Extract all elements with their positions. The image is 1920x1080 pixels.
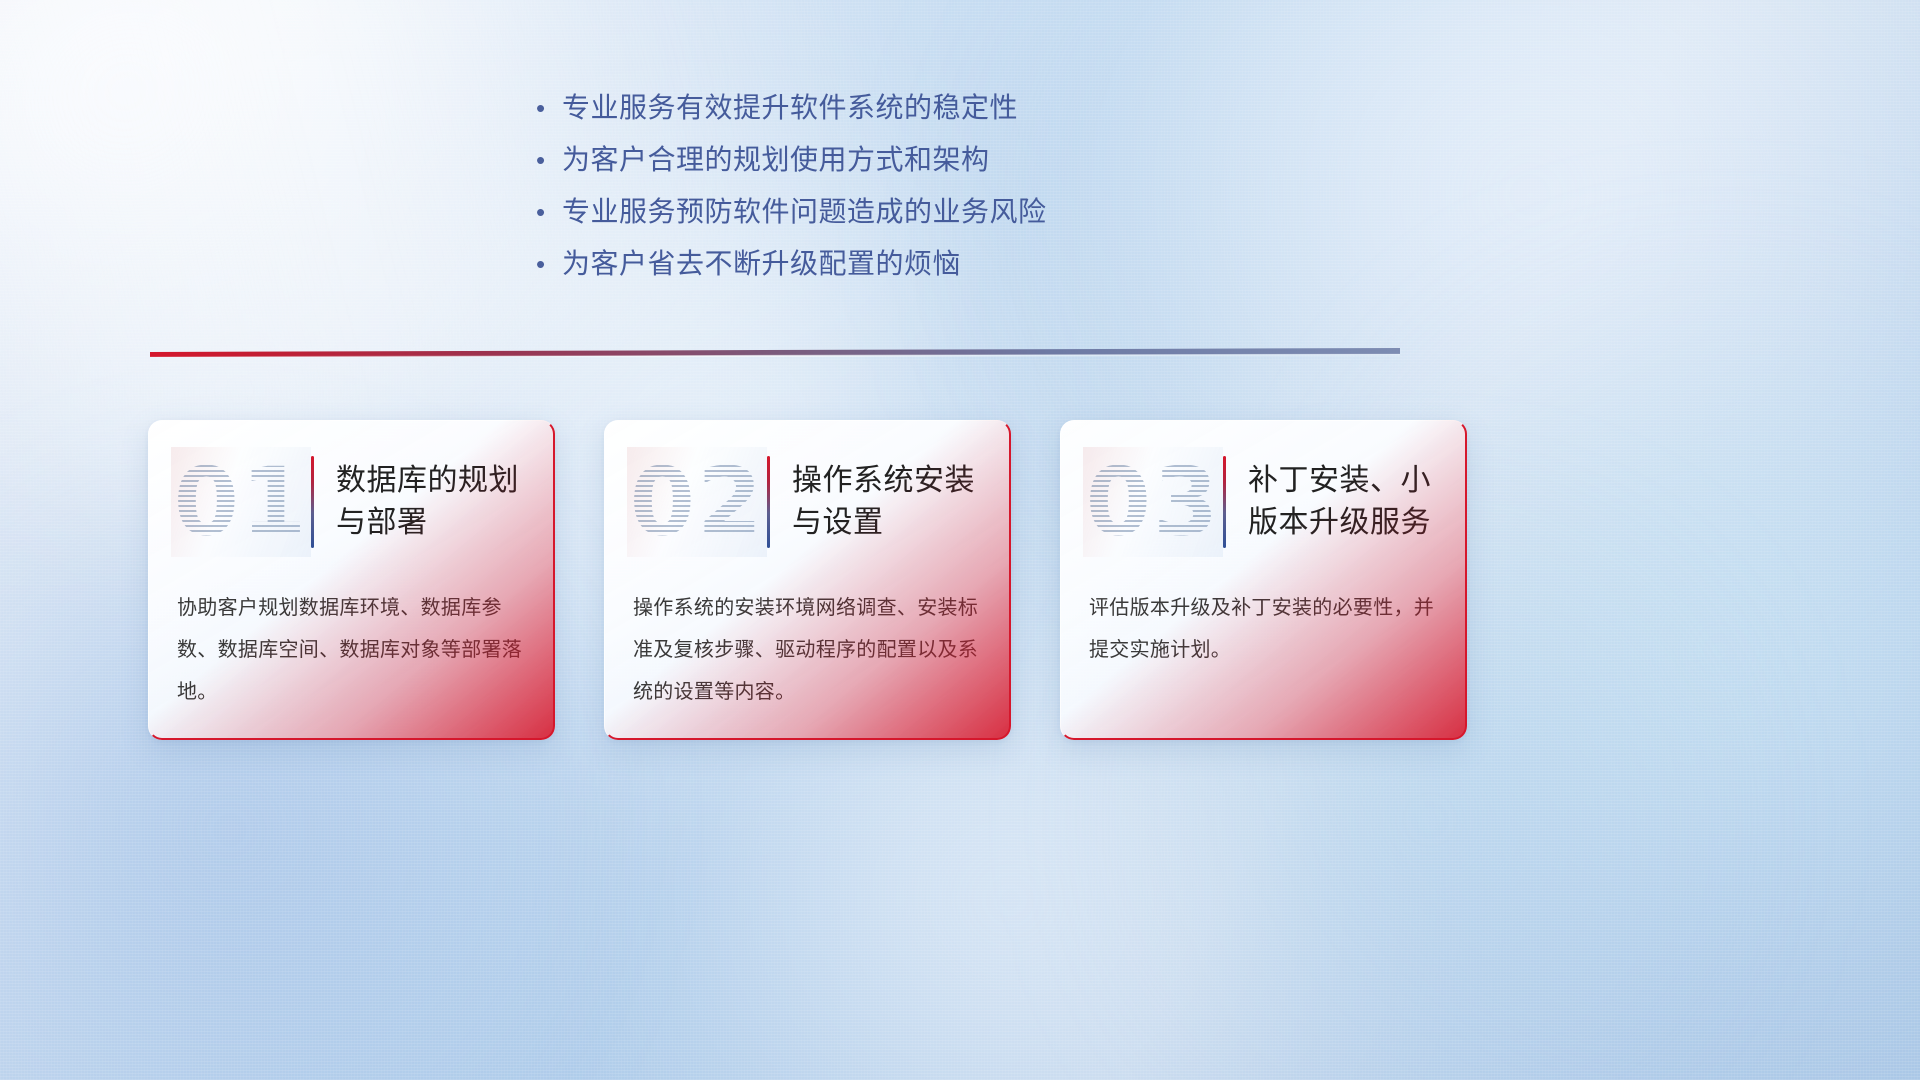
bullet-text: 为客户合理的规划使用方式和架构 (562, 140, 990, 180)
card-divider-bar (311, 456, 314, 548)
bullet-dot-icon: • (536, 88, 562, 128)
list-item: • 专业服务预防软件问题造成的业务风险 (536, 192, 1236, 244)
card-number-text: 02 (627, 447, 767, 557)
bullet-text: 专业服务预防软件问题造成的业务风险 (562, 192, 1047, 232)
card-description: 协助客户规划数据库环境、数据库参数、数据库空间、数据库对象等部署落地。 (177, 587, 529, 713)
card-number-graphic: 02 (627, 447, 767, 557)
card-surface: 01 数据库的规划与部署 协助客户规划数据库环境、数据库参数、数据库空间、数据库… (148, 420, 555, 740)
card-divider-bar (1223, 456, 1226, 548)
card-header: 02 操作系统安装与设置 (605, 437, 1011, 567)
card-title: 补丁安装、小版本升级服务 (1248, 460, 1467, 544)
list-item: • 为客户合理的规划使用方式和架构 (536, 140, 1236, 192)
card-number-graphic: 01 (171, 447, 311, 557)
bullet-dot-icon: • (536, 192, 562, 232)
card-number-text: 01 (171, 447, 311, 557)
card-number-text: 03 (1083, 447, 1223, 557)
bullet-dot-icon: • (536, 140, 562, 180)
divider-wedge-icon (150, 348, 1400, 362)
card-divider-bar (767, 456, 770, 548)
bullet-list: • 专业服务有效提升软件系统的稳定性 • 为客户合理的规划使用方式和架构 • 专… (536, 88, 1236, 296)
card-header: 01 数据库的规划与部署 (149, 437, 555, 567)
card-title: 操作系统安装与设置 (792, 460, 1011, 544)
card-description: 操作系统的安装环境网络调查、安装标准及复核步骤、驱动程序的配置以及系统的设置等内… (633, 587, 985, 713)
card-title: 数据库的规划与部署 (336, 460, 555, 544)
service-card-01[interactable]: 01 数据库的规划与部署 协助客户规划数据库环境、数据库参数、数据库空间、数据库… (148, 420, 555, 740)
service-card-03[interactable]: 03 补丁安装、小版本升级服务 评估版本升级及补丁安装的必要性，并提交实施计划。 (1060, 420, 1467, 740)
card-surface: 02 操作系统安装与设置 操作系统的安装环境网络调查、安装标准及复核步骤、驱动程… (604, 420, 1011, 740)
bullet-dot-icon: • (536, 244, 562, 284)
list-item: • 专业服务有效提升软件系统的稳定性 (536, 88, 1236, 140)
card-description: 评估版本升级及补丁安装的必要性，并提交实施计划。 (1089, 587, 1441, 671)
card-number-graphic: 03 (1083, 447, 1223, 557)
bullet-text: 为客户省去不断升级配置的烦恼 (562, 244, 961, 284)
card-surface: 03 补丁安装、小版本升级服务 评估版本升级及补丁安装的必要性，并提交实施计划。 (1060, 420, 1467, 740)
card-list: 01 数据库的规划与部署 协助客户规划数据库环境、数据库参数、数据库空间、数据库… (148, 420, 1468, 750)
service-card-02[interactable]: 02 操作系统安装与设置 操作系统的安装环境网络调查、安装标准及复核步骤、驱动程… (604, 420, 1011, 740)
card-header: 03 补丁安装、小版本升级服务 (1061, 437, 1467, 567)
bullet-text: 专业服务有效提升软件系统的稳定性 (562, 88, 1018, 128)
divider (150, 348, 1400, 362)
list-item: • 为客户省去不断升级配置的烦恼 (536, 244, 1236, 296)
